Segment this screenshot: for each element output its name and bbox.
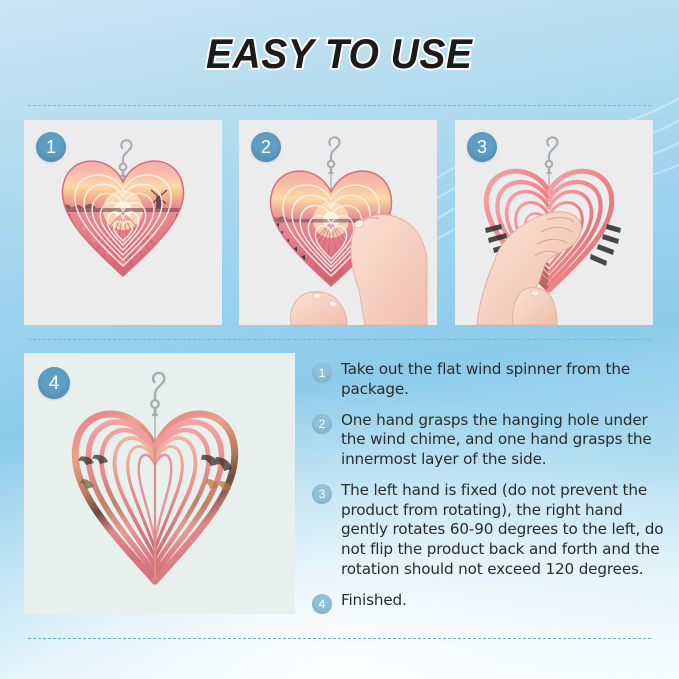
right-hand-2	[351, 215, 427, 325]
list-item: 1 Take out the flat wind spinner from th…	[312, 360, 664, 400]
bottom-hand-2	[290, 292, 347, 325]
panel-badge-3: 3	[467, 132, 497, 162]
instruction-badge-4: 4	[312, 594, 332, 614]
list-item: 3 The left hand is fixed (do not prevent…	[312, 481, 664, 580]
page-title: EASY TO USE	[206, 30, 472, 78]
panel-step-4: 4	[24, 353, 295, 614]
panel-badge-2: 2	[251, 132, 281, 162]
panel-step-2: 2	[239, 120, 437, 325]
panel-step-1: 1	[24, 120, 222, 325]
divider-middle	[28, 339, 651, 340]
list-item: 2 One hand grasps the hanging hole under…	[312, 411, 664, 470]
divider-top	[28, 105, 651, 106]
divider-bottom	[28, 638, 651, 639]
instruction-badge-1: 1	[312, 363, 332, 383]
panel-badge-4: 4	[38, 367, 70, 399]
instruction-list: 1 Take out the flat wind spinner from th…	[312, 360, 664, 625]
list-item: 4 Finished.	[312, 591, 664, 614]
panel-badge-1: 1	[36, 132, 66, 162]
page-title-wrapper: EASY TO USE	[0, 30, 679, 78]
instruction-text-4: Finished.	[341, 591, 407, 611]
panel-step-3: 3	[455, 120, 653, 325]
instruction-text-1: Take out the flat wind spinner from the …	[341, 360, 664, 400]
instruction-text-2: One hand grasps the hanging hole under t…	[341, 411, 664, 470]
instruction-badge-2: 2	[312, 414, 332, 434]
instruction-infographic: EASY TO USE 1	[0, 0, 679, 679]
instruction-badge-3: 3	[312, 484, 332, 504]
instruction-text-3: The left hand is fixed (do not prevent t…	[341, 481, 664, 580]
